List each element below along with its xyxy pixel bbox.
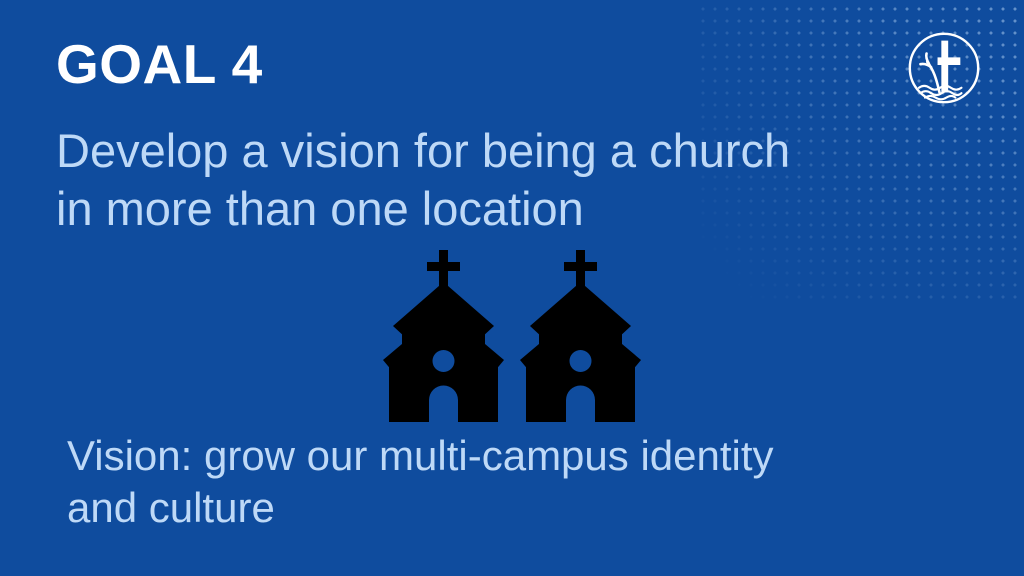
goal-subtitle-line-2: in more than one location xyxy=(56,180,946,238)
slide-canvas: GOAL 4 Develop a vision for being a chur… xyxy=(0,0,1024,576)
vision-caption-line-2: and culture xyxy=(67,482,967,534)
vision-caption-line-1: Vision: grow our multi-campus identity xyxy=(67,430,967,482)
church-left-door xyxy=(429,386,458,423)
goal-subtitle: Develop a vision for being a church in m… xyxy=(56,122,946,238)
two-churches-icon xyxy=(377,248,647,426)
vision-caption: Vision: grow our multi-campus identity a… xyxy=(67,430,967,534)
brand-logo xyxy=(906,30,982,106)
goal-subtitle-line-1: Develop a vision for being a church xyxy=(56,122,946,180)
church-left-window xyxy=(433,350,455,372)
church-right-door xyxy=(566,386,595,423)
church-right-window xyxy=(570,350,592,372)
page-title: GOAL 4 xyxy=(56,32,263,96)
logo-cross-icon xyxy=(938,41,961,93)
